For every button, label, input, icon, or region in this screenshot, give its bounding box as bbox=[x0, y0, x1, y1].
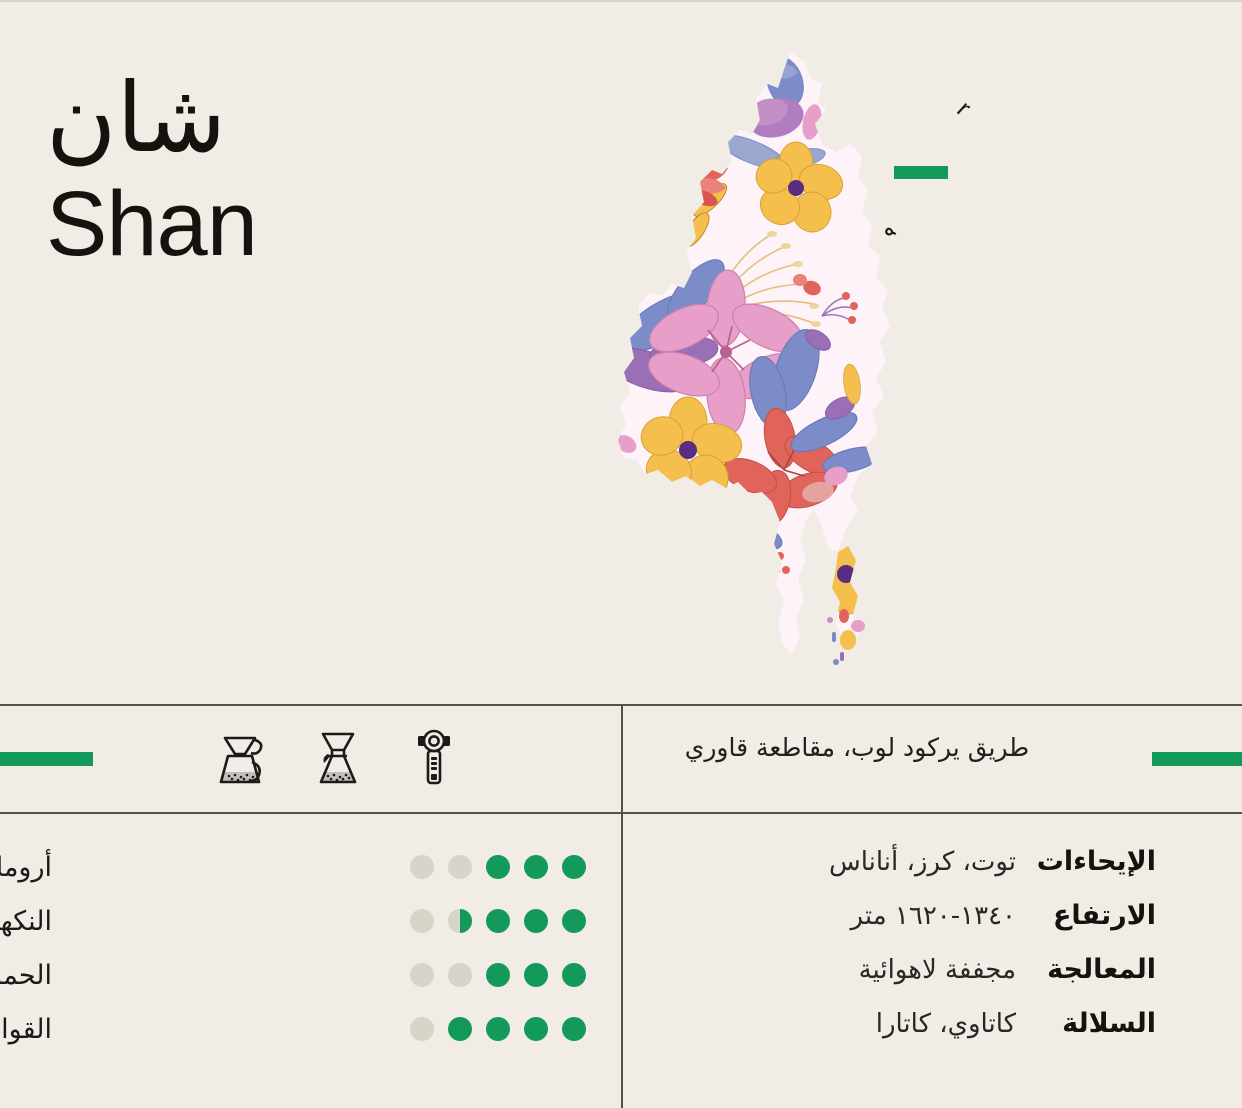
accent-bar-left bbox=[0, 752, 93, 766]
rating-dot bbox=[524, 963, 548, 987]
coffee-origin-card: شان Shan bbox=[0, 0, 1242, 1108]
rating-dots bbox=[410, 963, 586, 987]
specifications-panel: الإيحاءات توت، كرز، أناناس الارتفاع ١٣٤٠… bbox=[676, 846, 1156, 1062]
cupping-row: الحموضة bbox=[0, 948, 600, 1002]
rating-dot bbox=[410, 909, 434, 933]
spec-label: الارتفاع bbox=[1038, 900, 1156, 931]
rating-dot-half bbox=[448, 909, 472, 933]
rating-dot bbox=[562, 1017, 586, 1041]
accent-bar-right bbox=[1152, 752, 1242, 766]
brew-methods-row bbox=[215, 722, 465, 792]
country-accent-dash bbox=[894, 166, 948, 179]
svg-text:ميانمار: ميانمار bbox=[822, 60, 900, 250]
rating-dot bbox=[486, 909, 510, 933]
rating-dot bbox=[562, 963, 586, 987]
spec-label: السلالة bbox=[1038, 1008, 1156, 1039]
spec-row-altitude: الارتفاع ١٣٤٠-١٦٢٠ متر bbox=[676, 900, 1156, 954]
rating-dot bbox=[486, 855, 510, 879]
origin-location-text: طريق يركود لوب، مقاطعة قاوري bbox=[622, 730, 1092, 765]
rating-dot bbox=[486, 963, 510, 987]
cupping-row: القوام bbox=[0, 1002, 600, 1056]
rating-dot bbox=[562, 909, 586, 933]
rating-dot bbox=[448, 963, 472, 987]
spec-label: المعالجة bbox=[1038, 954, 1156, 985]
spec-value: كاتاوي، كاتارا bbox=[876, 1009, 1016, 1039]
rating-dots bbox=[410, 909, 586, 933]
rating-dot bbox=[524, 909, 548, 933]
rating-dot bbox=[524, 1017, 548, 1041]
spec-value: ١٣٤٠-١٦٢٠ متر bbox=[851, 901, 1017, 931]
rating-dot bbox=[410, 1017, 434, 1041]
page-title: شان Shan bbox=[46, 70, 566, 270]
chemex-icon[interactable] bbox=[311, 726, 365, 788]
rating-dot bbox=[448, 1017, 472, 1041]
rating-dot bbox=[562, 855, 586, 879]
spec-row-process: المعالجة مجففة لاهوائية bbox=[676, 954, 1156, 1008]
top-hairline-divider bbox=[0, 0, 1242, 2]
cupping-row: أروما bbox=[0, 840, 600, 894]
pour-over-dripper-icon[interactable] bbox=[215, 726, 269, 788]
spec-value: مجففة لاهوائية bbox=[859, 955, 1016, 985]
rating-dot bbox=[448, 855, 472, 879]
rating-dot bbox=[410, 963, 434, 987]
title-arabic: شان bbox=[46, 70, 566, 166]
spec-row-notes: الإيحاءات توت، كرز، أناناس bbox=[676, 846, 1156, 900]
cupping-label: النكهة bbox=[0, 906, 52, 937]
rating-dots bbox=[410, 1017, 586, 1041]
cupping-row: النكهة bbox=[0, 894, 600, 948]
cupping-label: أروما bbox=[0, 852, 52, 883]
spec-value: توت، كرز، أناناس bbox=[829, 847, 1016, 877]
cupping-label: الحموضة bbox=[0, 960, 52, 991]
rating-dot bbox=[524, 855, 548, 879]
spec-label: الإيحاءات bbox=[1038, 846, 1156, 877]
country-label-arabic-path: ميانمار bbox=[822, 60, 900, 250]
cupping-label: القوام bbox=[0, 1014, 52, 1045]
cupping-scores-panel: أروما النكهة الحموضة bbox=[0, 840, 600, 1056]
rating-dot bbox=[486, 1017, 510, 1041]
title-latin: Shan bbox=[46, 178, 566, 270]
portafilter-icon[interactable] bbox=[407, 726, 461, 788]
rating-dot bbox=[410, 855, 434, 879]
rating-dots bbox=[410, 855, 586, 879]
spec-row-variety: السلالة كاتاوي، كاتارا bbox=[676, 1008, 1156, 1062]
